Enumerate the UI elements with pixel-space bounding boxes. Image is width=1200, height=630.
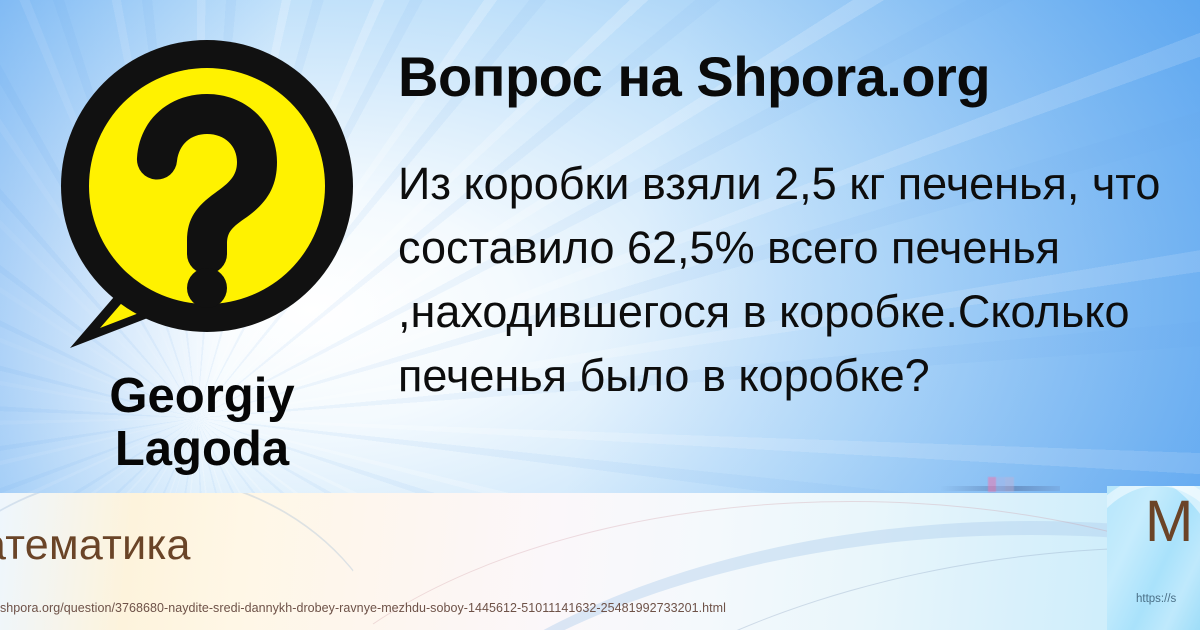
- right-panel-letter: M: [1145, 488, 1193, 555]
- page-title: Вопрос на Shpora.org: [398, 48, 1098, 107]
- share-card-image: Вопрос на Shpora.org Из коробки взяли 2,…: [0, 0, 1200, 630]
- subject-label: атематика: [0, 521, 191, 570]
- question-text: Из коробки взяли 2,5 кг печенья, что сос…: [398, 152, 1188, 408]
- source-url: shpora.org/question/3768680-naydite-sred…: [0, 601, 726, 615]
- question-speech-bubble-icon: [52, 36, 362, 356]
- right-panel-url: https://s: [1136, 593, 1176, 605]
- color-speck-artifact: [988, 477, 1014, 492]
- main-card: Вопрос на Shpora.org Из коробки взяли 2,…: [0, 0, 1200, 500]
- author-name: Georgiy Lagoda: [52, 370, 352, 476]
